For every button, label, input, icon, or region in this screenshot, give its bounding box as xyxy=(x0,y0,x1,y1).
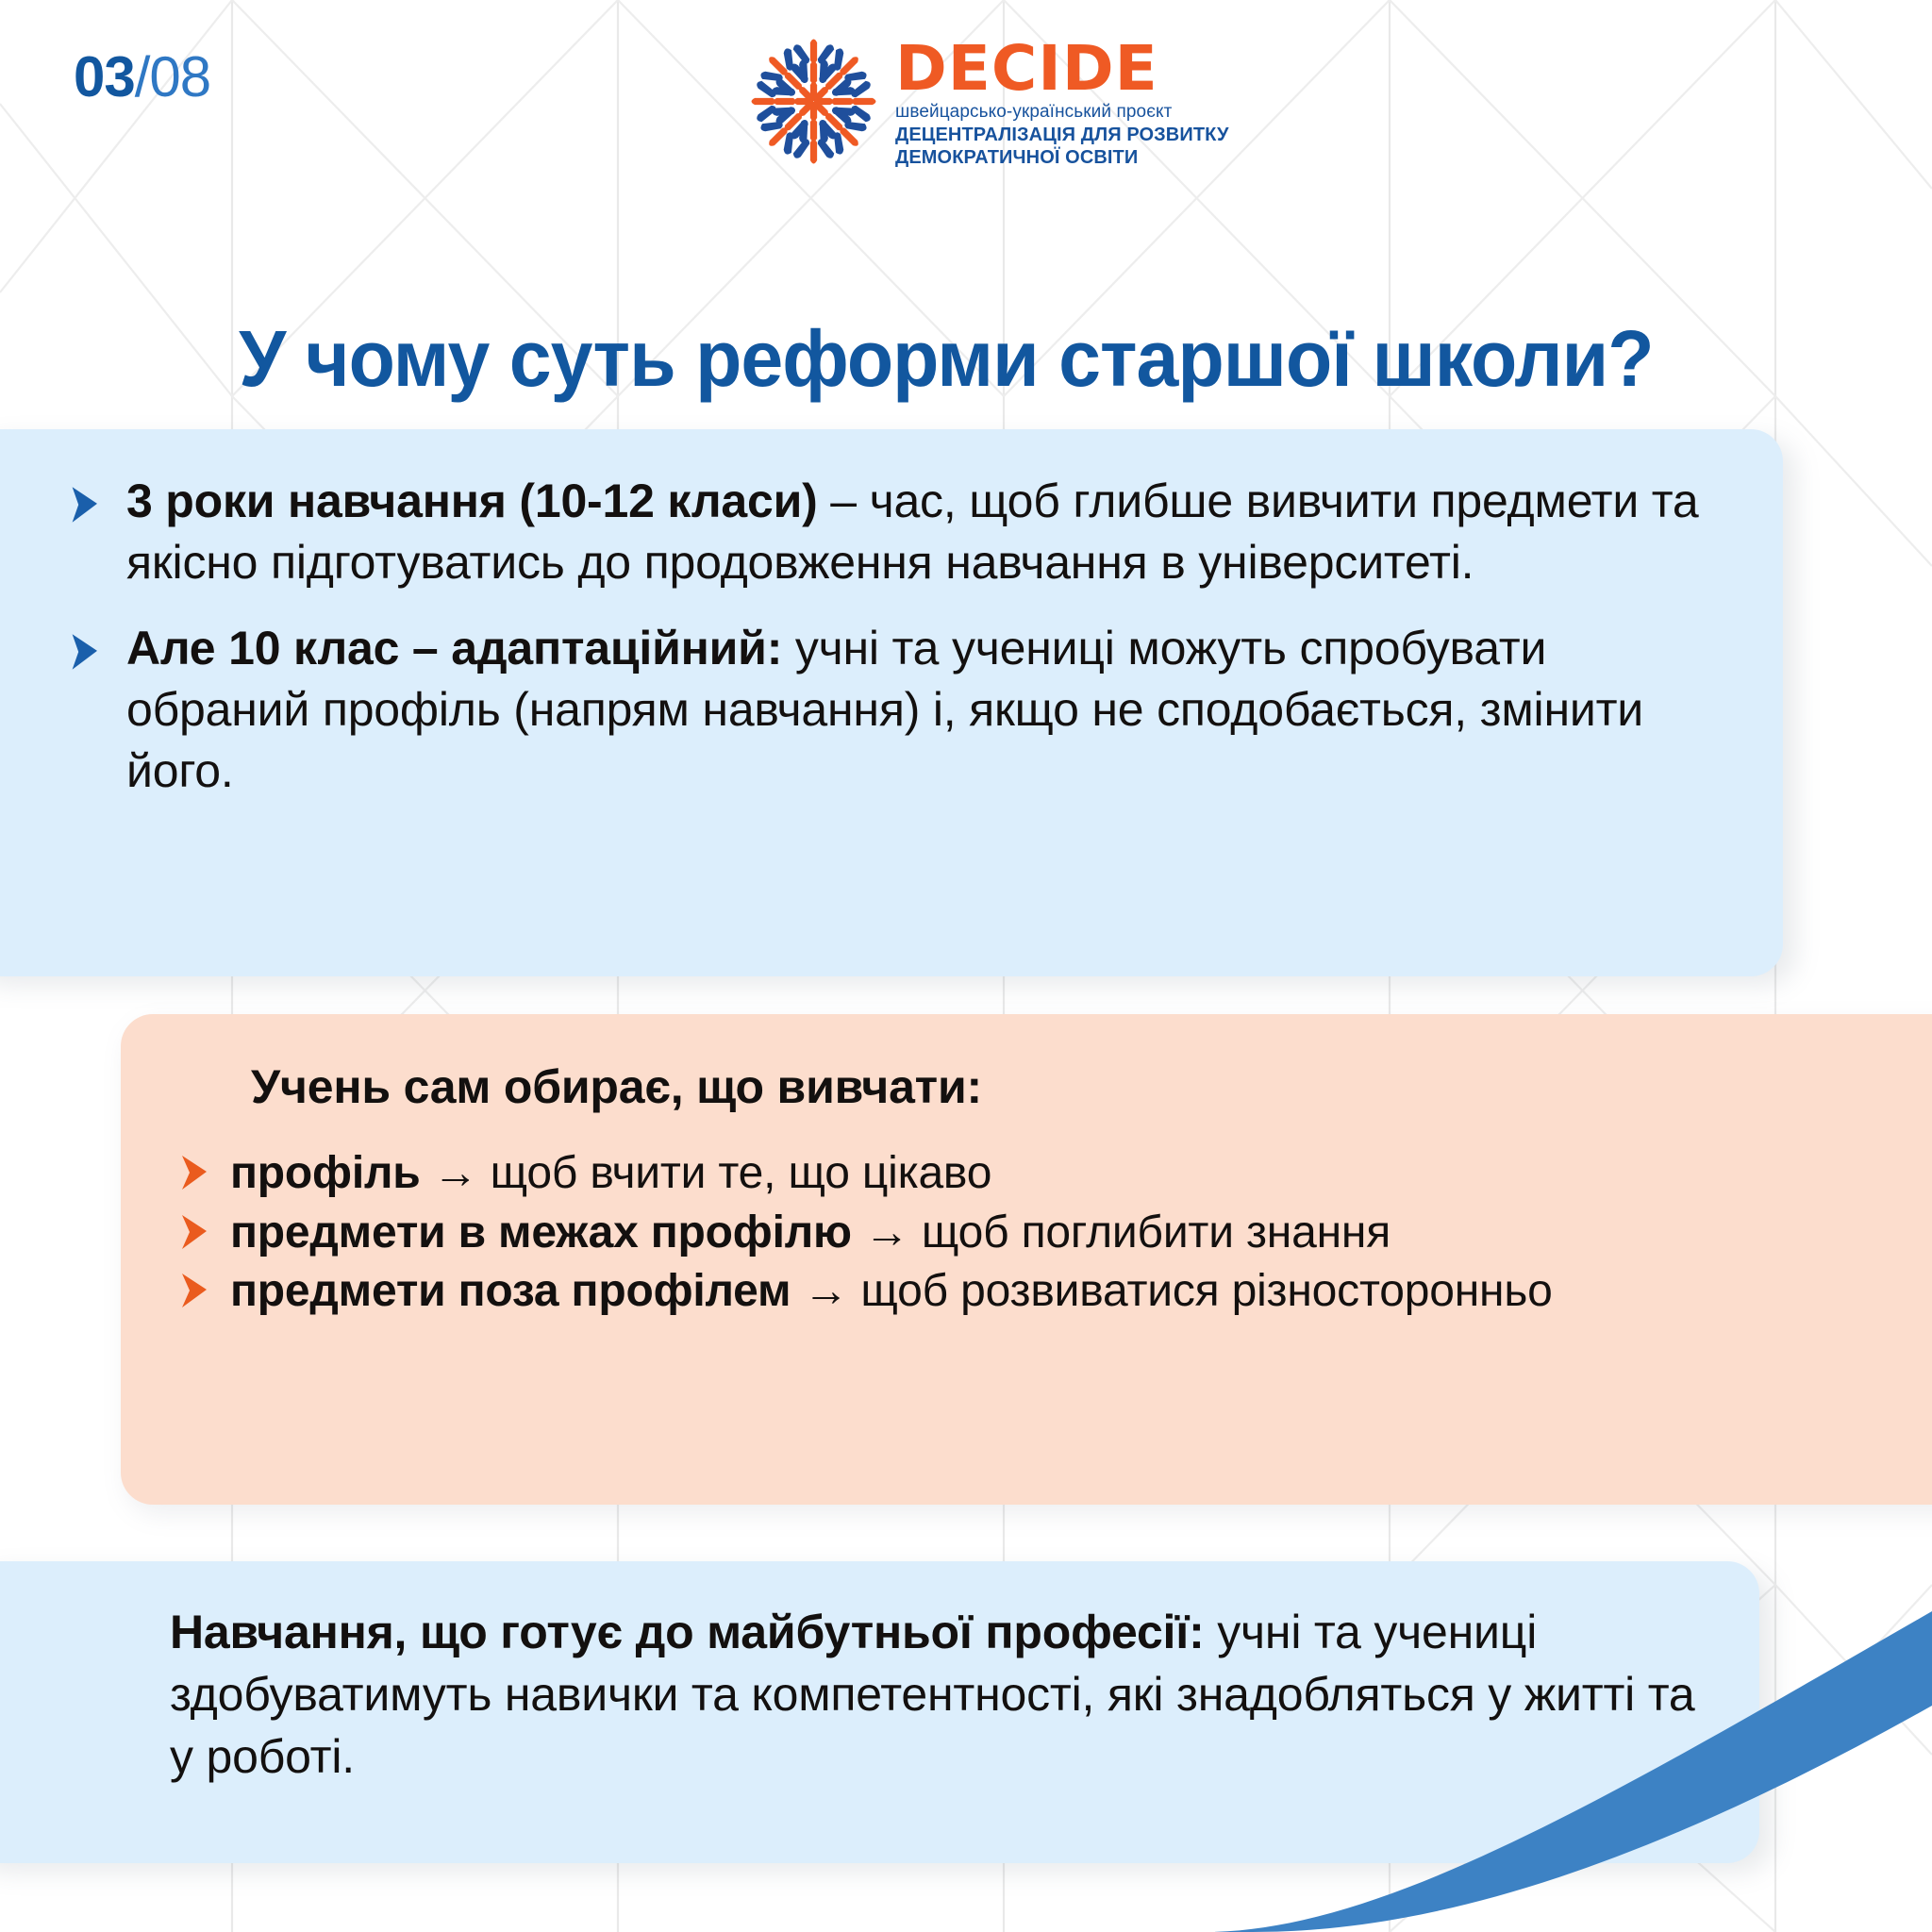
logo-subtitle-line-1: швейцарсько-український проєкт xyxy=(895,101,1228,124)
bullet-bold: профіль xyxy=(230,1148,421,1198)
bullet-text: профіль → щоб вчити те, що цікаво xyxy=(230,1146,991,1202)
card-heading: Учень сам обирає, що вивчати: xyxy=(251,1059,1913,1114)
chevron-right-icon xyxy=(66,484,108,525)
bullet-bold: Але 10 клас – адаптаційний: xyxy=(126,622,782,675)
bullet-bold: предмети в межах профілю xyxy=(230,1207,852,1257)
card-student-choice: Учень сам обирає, що вивчати: профіль → … xyxy=(121,1014,1932,1505)
card-body-text: Навчання, що готує до майбутньої професі… xyxy=(170,1601,1703,1788)
card-future-profession: Навчання, що готує до майбутньої професі… xyxy=(0,1561,1759,1863)
page-indicator: 03/08 xyxy=(74,49,210,106)
bullet-arrow: → xyxy=(791,1266,860,1316)
bullet-text: Але 10 клас – адаптаційний: учні та учен… xyxy=(126,618,1717,802)
bullet-text: 3 роки навчання (10-12 класи) – час, щоб… xyxy=(126,471,1717,593)
card-three-years: 3 роки навчання (10-12 класи) – час, щоб… xyxy=(0,429,1783,976)
bullet-item: предмети в межах профілю → щоб поглибити… xyxy=(177,1206,1913,1261)
logo-subtitle-line-2: ДЕЦЕНТРАЛІЗАЦІЯ ДЛЯ РОЗВИТКУ xyxy=(895,124,1228,146)
chevron-right-icon xyxy=(177,1154,215,1191)
chevron-right-icon xyxy=(177,1213,215,1251)
bullet-text: предмети поза профілем → щоб розвиватися… xyxy=(230,1264,1553,1320)
card-bold-lead: Навчання, що готує до майбутньої професі… xyxy=(170,1606,1205,1658)
snowflake-ornament-icon xyxy=(745,33,882,170)
chevron-right-icon xyxy=(177,1272,215,1309)
logo-wordmark: DECIDE xyxy=(895,40,1228,99)
bullet-item: 3 роки навчання (10-12 класи) – час, щоб… xyxy=(66,471,1717,593)
bullet-rest: щоб вчити те, що цікаво xyxy=(491,1148,992,1198)
logo-subtitle-line-3: ДЕМОКРАТИЧНОЇ ОСВІТИ xyxy=(895,146,1228,169)
bullet-item: профіль → щоб вчити те, що цікаво xyxy=(177,1146,1913,1202)
page-separator: / xyxy=(135,45,150,108)
logo-text-block: DECIDE швейцарсько-український проєкт ДЕ… xyxy=(895,34,1228,169)
bullet-rest: щоб поглибити знання xyxy=(922,1207,1391,1257)
bullet-arrow: → xyxy=(852,1207,922,1257)
page-title: У чому суть реформи старшої школи? xyxy=(104,317,1789,400)
bullet-arrow: → xyxy=(421,1148,491,1198)
decide-logo: DECIDE швейцарсько-український проєкт ДЕ… xyxy=(745,33,1228,170)
bullet-item: Але 10 клас – адаптаційний: учні та учен… xyxy=(66,618,1717,802)
bullet-bold: предмети поза профілем xyxy=(230,1266,791,1316)
chevron-right-icon xyxy=(66,631,108,673)
bullet-bold: 3 роки навчання (10-12 класи) xyxy=(126,475,818,527)
bullet-item: предмети поза профілем → щоб розвиватися… xyxy=(177,1264,1913,1320)
page-total: 08 xyxy=(149,45,210,108)
bullet-rest: щоб розвиватися різносторонньо xyxy=(860,1266,1552,1316)
bullet-text: предмети в межах профілю → щоб поглибити… xyxy=(230,1206,1391,1261)
page-current: 03 xyxy=(74,45,135,108)
